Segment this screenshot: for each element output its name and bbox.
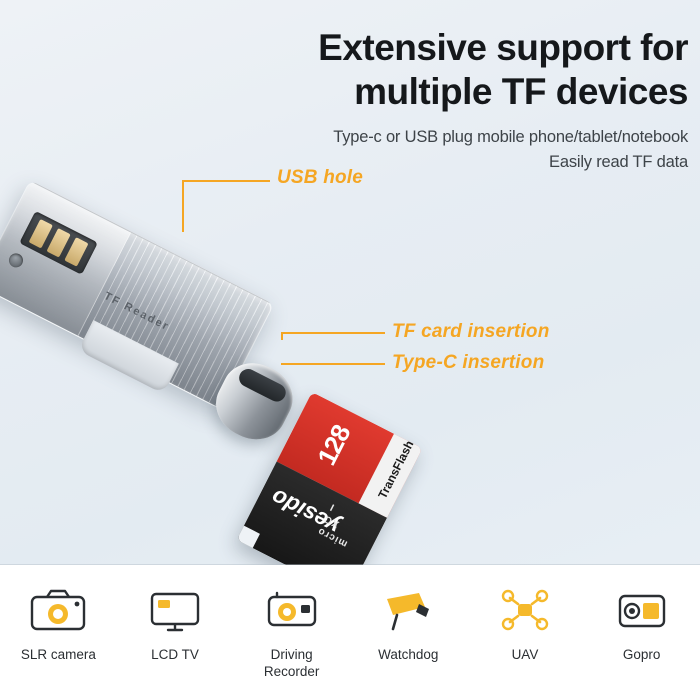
headline-line-1: Extensive support for: [318, 27, 688, 68]
usb-hole-leader-line: [182, 180, 270, 182]
compatibility-label: Driving: [236, 647, 348, 664]
callout-usb-hole: USB hole: [277, 167, 363, 189]
compatibility-label-2: Recorder: [236, 664, 348, 681]
card-reader-body: TF Reader: [0, 180, 278, 529]
product-infographic: Extensive support for multiple TF device…: [0, 0, 700, 700]
tf-card-leader-line: [281, 332, 385, 334]
compatibility-item-gopro: Gopro: [586, 579, 698, 664]
compatibility-label: UAV: [469, 647, 581, 664]
security-camera-icon: [352, 579, 464, 641]
camera-icon: [2, 579, 114, 641]
type-c-port-opening: [236, 366, 289, 405]
compatibility-label: Watchdog: [352, 647, 464, 664]
compatibility-item-uav: UAV: [469, 579, 581, 664]
compatibility-item-driving-recorder: Driving Recorder: [236, 579, 348, 681]
drone-icon: [469, 579, 581, 641]
compatibility-label: SLR camera: [2, 647, 114, 664]
dashcam-icon: [236, 579, 348, 641]
compatibility-item-lcd-tv: LCD TV: [119, 579, 231, 664]
subtitle-line-2: Easily read TF data: [549, 153, 688, 172]
compatibility-label: Gopro: [586, 647, 698, 664]
compatibility-item-slr-camera: SLR camera: [2, 579, 114, 664]
compatibility-item-watchdog: Watchdog: [352, 579, 464, 664]
headline-line-2: multiple TF devices: [0, 70, 688, 114]
usb-hole-leader-vertical: [182, 180, 184, 232]
tv-icon: [119, 579, 231, 641]
page-title: Extensive support for multiple TF device…: [0, 26, 688, 113]
usb-contact-pad: [64, 237, 88, 267]
compatibility-bar: SLR camera LCD TV: [0, 565, 700, 700]
callout-type-c-insertion: Type-C insertion: [392, 352, 544, 374]
action-camera-icon: [586, 579, 698, 641]
type-c-leader-line: [281, 363, 385, 365]
callout-tf-card-insertion: TF card insertion: [392, 321, 550, 343]
subtitle-line-1: Type-c or USB plug mobile phone/tablet/n…: [333, 128, 688, 147]
compatibility-label: LCD TV: [119, 647, 231, 664]
